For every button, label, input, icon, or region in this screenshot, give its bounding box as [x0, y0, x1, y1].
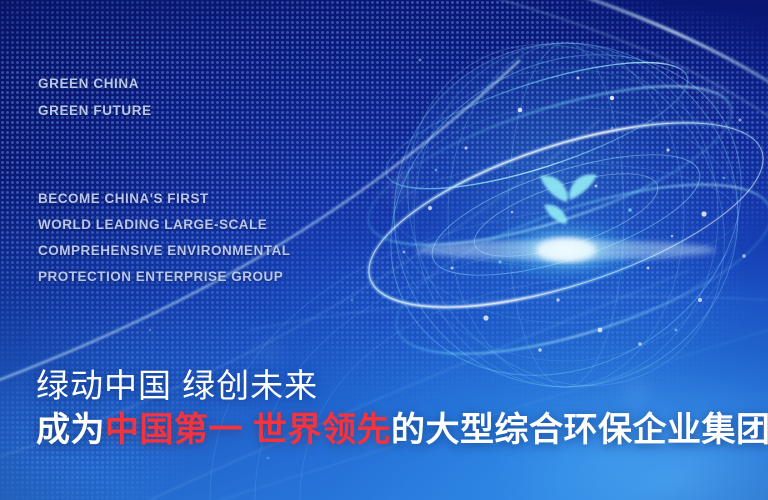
tagline-line-4: PROTECTION ENTERPRISE GROUP: [38, 264, 291, 290]
eyebrow-line-1: GREEN CHINA: [38, 70, 152, 97]
headline-line-1: 绿动中国 绿创未来: [36, 364, 768, 408]
tagline-line-2: WORLD LEADING LARGE-SCALE: [38, 212, 291, 238]
headline: 绿动中国 绿创未来 成为中国第一 世界领先的大型综合环保企业集团: [36, 364, 768, 452]
tagline-line-3: COMPREHENSIVE ENVIRONMENTAL: [38, 238, 291, 264]
sprout-seedling-icon: [531, 166, 605, 254]
eyebrow-text: GREEN CHINA GREEN FUTURE: [38, 70, 152, 124]
headline-line-2: 成为中国第一 世界领先的大型综合环保企业集团: [36, 408, 768, 452]
headline-suffix: 的大型综合环保企业集团: [391, 411, 768, 449]
headline-prefix: 成为: [36, 411, 105, 449]
hero-banner: GREEN CHINA GREEN FUTURE BECOME CHINA'S …: [0, 0, 768, 500]
tagline-text: BECOME CHINA'S FIRST WORLD LEADING LARGE…: [38, 186, 291, 290]
tagline-line-1: BECOME CHINA'S FIRST: [38, 186, 291, 212]
headline-highlight: 中国第一 世界领先: [105, 411, 391, 449]
eyebrow-line-2: GREEN FUTURE: [38, 97, 152, 124]
